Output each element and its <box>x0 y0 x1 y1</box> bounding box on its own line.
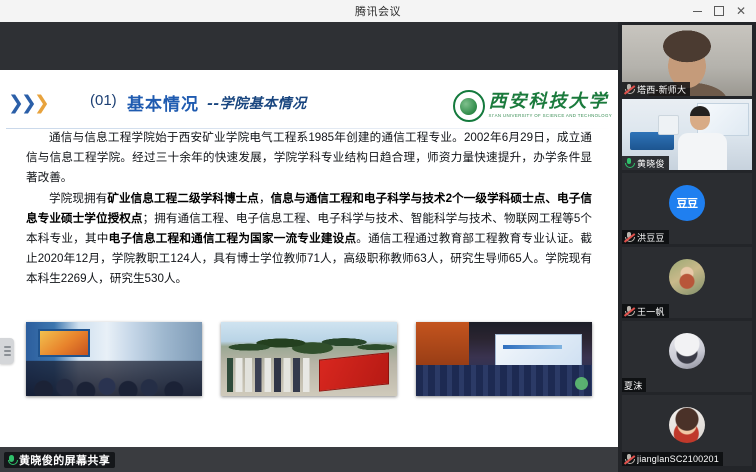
slide-photo-strip <box>26 322 592 396</box>
participant-name-chip: 塔西-新师大 <box>622 82 690 96</box>
slide-section-subtitle: --学院基本情况 <box>207 93 307 113</box>
slide-body-text: 通信与信息工程学院始于西安矿业学院电气工程系1985年创建的通信工程专业。200… <box>26 128 592 290</box>
mic-muted-icon <box>624 454 634 465</box>
panel-toggle-icon[interactable] <box>0 338 14 364</box>
tencent-meeting-window: 腾讯会议 ✕ ❯❯❯ (01) 基本情况 --学院基本情况 西安科技大学 <box>0 0 756 472</box>
participant-tile[interactable]: 黄晓俊 <box>622 99 752 170</box>
participant-name: 夏沫 <box>624 379 642 392</box>
mic-muted-icon <box>624 84 634 95</box>
slide-paragraph: 通信与信息工程学院始于西安矿业学院电气工程系1985年创建的通信工程专业。200… <box>26 128 592 188</box>
participant-tile[interactable]: jianglanSC2100201 <box>622 395 752 466</box>
slide-header: ❯❯❯ (01) 基本情况 --学院基本情况 西安科技大学 XI'AN UNIV… <box>0 88 618 122</box>
mic-muted-icon <box>624 232 634 243</box>
university-logo: 西安科技大学 XI'AN UNIVERSITY OF SCIENCE AND T… <box>453 86 612 126</box>
screen-share-status-badge: 黄晓俊的屏幕共享 <box>4 452 115 468</box>
participant-name: 黄晓俊 <box>637 157 665 170</box>
avatar <box>669 407 705 443</box>
participant-name: 洪豆豆 <box>637 231 665 244</box>
maximize-button[interactable] <box>708 0 730 22</box>
avatar <box>669 333 705 369</box>
participant-filmstrip[interactable]: 塔西-新师大黄晓俊豆豆洪豆豆王一帆夏沫jianglanSC2100201 <box>618 22 756 472</box>
participant-name: jianglanSC2100201 <box>637 454 719 464</box>
mic-on-icon <box>7 455 16 466</box>
window-title: 腾讯会议 <box>355 3 401 19</box>
participant-name-chip: jianglanSC2100201 <box>622 452 723 466</box>
participant-tile[interactable]: 夏沫 <box>622 321 752 392</box>
participant-tile[interactable]: 王一帆 <box>622 247 752 318</box>
photo-outdoor-ceremony <box>221 322 397 396</box>
avatar <box>669 259 705 295</box>
university-seal-icon <box>453 90 485 122</box>
minimize-button[interactable] <box>686 0 708 22</box>
chevron-triple-icon: ❯❯❯ <box>8 92 47 114</box>
participant-name: 塔西-新师大 <box>637 83 686 96</box>
avatar: 豆豆 <box>669 185 705 221</box>
university-name-en: XI'AN UNIVERSITY OF SCIENCE AND TECHNOLO… <box>489 114 612 118</box>
photo-conference-room <box>26 322 202 396</box>
stage-top-letterbox <box>0 22 618 70</box>
participant-tile[interactable]: 豆豆洪豆豆 <box>622 173 752 244</box>
maximize-icon <box>714 6 724 16</box>
university-name-cn: 西安科技大学 <box>489 93 612 111</box>
participant-name-chip: 王一帆 <box>622 304 669 318</box>
slide-section-number: (01) <box>90 92 117 109</box>
photo-auditorium <box>416 322 592 396</box>
mic-on-icon <box>624 158 634 169</box>
window-controls: ✕ <box>686 0 752 22</box>
participant-name-chip: 夏沫 <box>622 378 646 392</box>
screen-share-owner-label: 黄晓俊的屏幕共享 <box>19 452 110 468</box>
slide-section-title: 基本情况 <box>127 90 199 115</box>
minimize-icon <box>693 11 702 12</box>
title-bar: 腾讯会议 ✕ <box>0 0 756 23</box>
presentation-slide: ❯❯❯ (01) 基本情况 --学院基本情况 西安科技大学 XI'AN UNIV… <box>0 70 618 447</box>
mic-muted-icon <box>624 306 634 317</box>
slide-paragraph: 学院现拥有矿业信息工程二级学科博士点，信息与通信工程和电子科学与技术2个一级学科… <box>26 189 592 289</box>
participant-tile[interactable]: 塔西-新师大 <box>622 25 752 96</box>
avatar-initials: 豆豆 <box>677 195 698 211</box>
participant-name-chip: 黄晓俊 <box>622 156 669 170</box>
close-icon: ✕ <box>736 5 746 17</box>
shared-screen-stage[interactable]: ❯❯❯ (01) 基本情况 --学院基本情况 西安科技大学 XI'AN UNIV… <box>0 22 618 472</box>
participant-name: 王一帆 <box>637 305 665 318</box>
participant-name-chip: 洪豆豆 <box>622 230 669 244</box>
close-button[interactable]: ✕ <box>730 0 752 22</box>
